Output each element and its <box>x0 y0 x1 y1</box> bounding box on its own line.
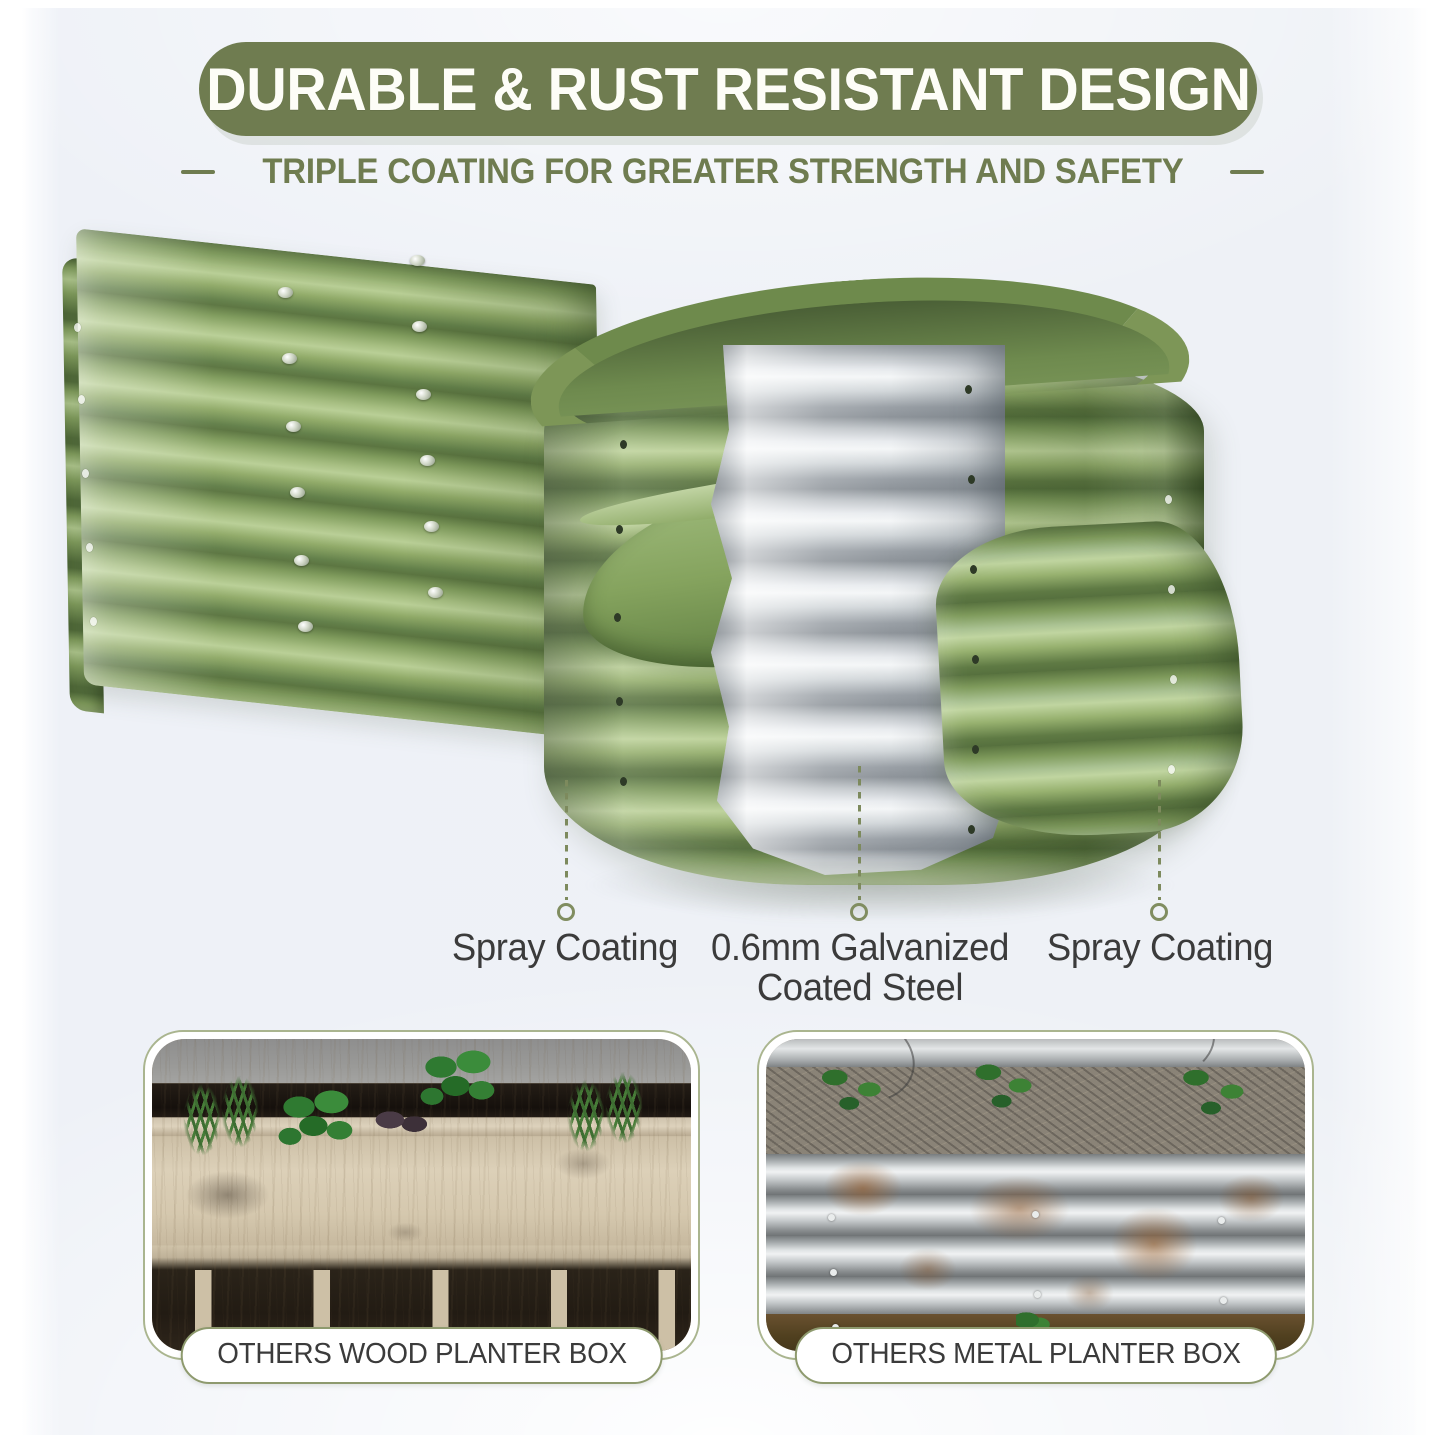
rivet-icon <box>1220 1297 1227 1304</box>
comparison-card-wood: OTHERS WOOD PLANTER BOX <box>143 1030 700 1360</box>
screw-icon <box>294 555 309 566</box>
screw-icon <box>416 389 431 400</box>
screw-icon <box>424 521 439 532</box>
basil-plant <box>272 1083 362 1169</box>
purple-basil-plant <box>364 1101 438 1143</box>
rivet-icon <box>1032 1211 1039 1218</box>
rivet-icon <box>972 655 979 664</box>
screw-icon <box>290 487 305 498</box>
rivet-icon <box>968 825 975 834</box>
rivet-icon <box>1168 585 1175 594</box>
photo-metal-planter <box>766 1039 1305 1351</box>
card-caption-wood-text: OTHERS WOOD PLANTER BOX <box>217 1338 626 1371</box>
rivet-icon <box>614 613 621 622</box>
screw-icon <box>282 353 297 364</box>
rivet-icon <box>620 440 627 449</box>
screw-icon <box>420 455 435 466</box>
header-banner: DURABLE & RUST RESISTANT DESIGN <box>199 42 1257 136</box>
page-edge-top <box>0 0 1445 8</box>
rivet-icon <box>1168 765 1175 774</box>
screw-icon <box>410 255 425 266</box>
rosemary-plant <box>214 1061 266 1153</box>
rivet-icon <box>965 385 972 394</box>
rosemary-plant <box>598 1057 650 1149</box>
page-edge-right <box>1411 0 1445 1445</box>
rivet-icon <box>78 395 85 404</box>
rivet-icon <box>970 565 977 574</box>
rivet-icon <box>90 617 97 626</box>
dash-left-icon <box>181 170 215 174</box>
green-coating-flap <box>932 517 1248 842</box>
rivet-icon <box>1218 1217 1225 1224</box>
rivet-icon <box>830 1269 837 1276</box>
corrugated-panel-flat <box>76 228 604 741</box>
rivet-icon <box>828 1214 835 1221</box>
rivet-icon <box>616 525 623 534</box>
rivet-icon <box>1034 1291 1041 1298</box>
plant-leaves <box>962 1045 1050 1123</box>
photo-wood-planter <box>152 1039 691 1351</box>
subtitle-row: TRIPLE COATING FOR GREATER STRENGTH AND … <box>0 152 1445 192</box>
rivet-icon <box>616 697 623 706</box>
comparison-card-metal: OTHERS METAL PLANTER BOX <box>757 1030 1314 1360</box>
rivet-icon <box>82 469 89 478</box>
page-edge-bottom <box>0 1435 1445 1445</box>
page-subtitle: TRIPLE COATING FOR GREATER STRENGTH AND … <box>262 152 1183 192</box>
rivet-icon <box>86 543 93 552</box>
rivet-icon <box>968 475 975 484</box>
product-shadow <box>580 861 1180 921</box>
screw-icon <box>298 621 313 632</box>
screw-icon <box>428 587 443 598</box>
rivet-icon <box>1170 675 1177 684</box>
card-caption-wood: OTHERS WOOD PLANTER BOX <box>180 1327 663 1384</box>
screw-icon <box>412 321 427 332</box>
card-caption-metal: OTHERS METAL PLANTER BOX <box>794 1327 1276 1384</box>
product-illustration <box>60 225 1260 915</box>
screw-icon <box>286 421 301 432</box>
screw-icon <box>278 287 293 298</box>
rivet-icon <box>972 745 979 754</box>
rivet-icon <box>620 777 627 786</box>
card-caption-metal-text: OTHERS METAL PLANTER BOX <box>831 1338 1240 1371</box>
dash-right-icon <box>1230 170 1264 174</box>
rivet-icon <box>74 323 81 332</box>
metal-planter-image <box>766 1039 1305 1351</box>
page-title: DURABLE & RUST RESISTANT DESIGN <box>206 55 1250 124</box>
page-edge-left <box>0 0 26 1445</box>
rivet-icon <box>1165 495 1172 504</box>
